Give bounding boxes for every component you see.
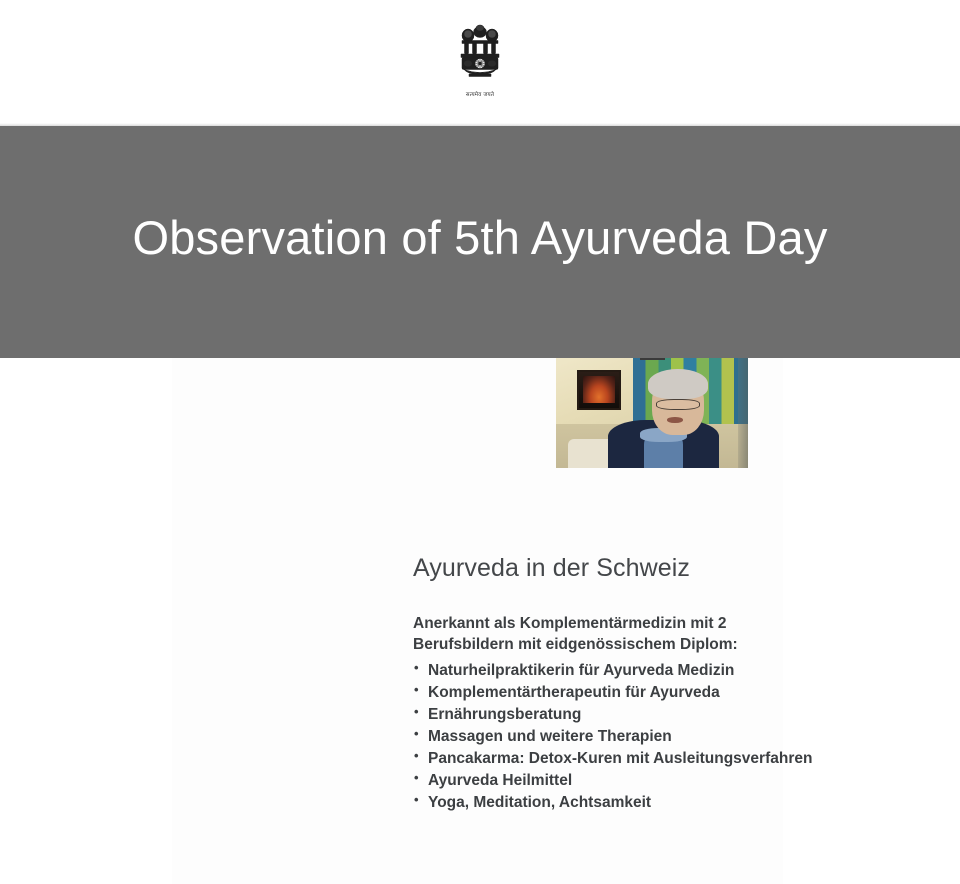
title-banner: Observation of 5th Ayurveda Day xyxy=(0,126,960,358)
video-framed-artwork xyxy=(577,370,621,410)
ashoka-lion-capital-icon xyxy=(452,19,508,91)
slide-bullet-item: Yoga, Meditation, Achtsamkeit xyxy=(413,792,913,814)
slide-bullet-item: Ayurveda Heilmittel xyxy=(413,770,913,792)
video-speaker-mouth xyxy=(667,417,682,423)
slide-bullet-item: Massagen und weitere Therapien xyxy=(413,726,913,748)
video-speaker-hair xyxy=(648,369,708,399)
slide-bullet-item: Pancakarma: Detox-Kuren mit Ausleitungsv… xyxy=(413,748,913,770)
slide-bullet-item: Komplementärtherapeutin für Ayurveda xyxy=(413,682,913,704)
slide-text-block: Ayurveda in der Schweiz Anerkannt als Ko… xyxy=(413,553,913,814)
slide-panel: Ayurveda in der Schweiz Anerkannt als Ko… xyxy=(172,358,783,884)
slide-heading: Ayurveda in der Schweiz xyxy=(413,553,913,583)
national-emblem: सत्यमेव जयते xyxy=(452,19,508,105)
slide-bullet-item: Ernährungsberatung xyxy=(413,704,913,726)
video-top-notch xyxy=(640,358,665,360)
video-speaker-glasses xyxy=(656,399,700,410)
content-area: Ayurveda in der Schweiz Anerkannt als Ko… xyxy=(0,358,960,884)
slide-intro-text: Anerkannt als Komplementärmedizin mit 2 … xyxy=(413,613,828,656)
slide-bullet-list: Naturheilpraktikerin für Ayurveda Medizi… xyxy=(413,660,913,814)
page-title: Observation of 5th Ayurveda Day xyxy=(132,212,827,264)
emblem-header: सत्यमेव जयते xyxy=(0,0,960,124)
slide-bullet-item: Naturheilpraktikerin für Ayurveda Medizi… xyxy=(413,660,913,682)
video-thumbnail[interactable] xyxy=(556,358,748,468)
video-right-edge-shadow xyxy=(738,358,748,468)
emblem-motto-text: सत्यमेव जयते xyxy=(466,92,494,99)
